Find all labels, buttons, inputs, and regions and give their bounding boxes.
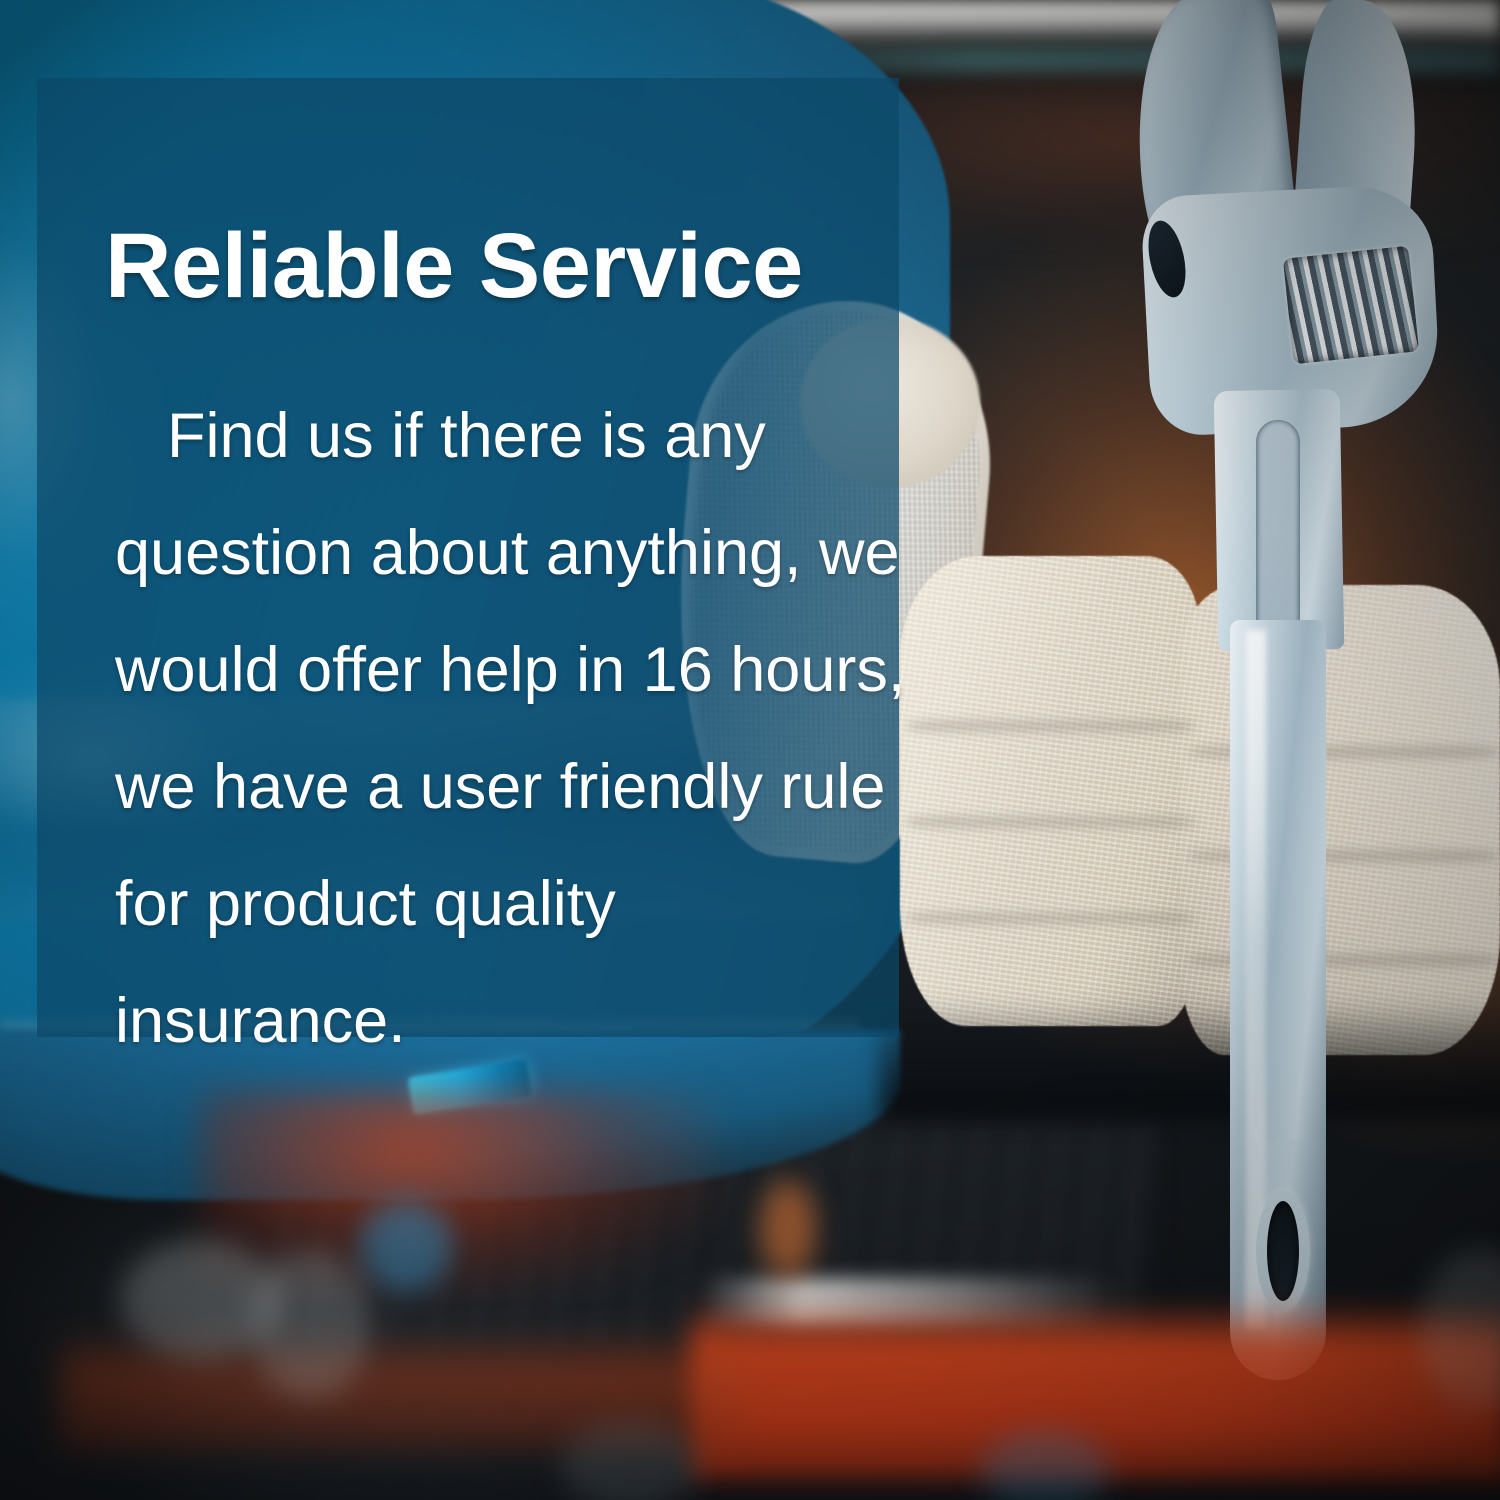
text-overlay-panel: Reliable Service Find us if there is any… [37, 78, 899, 1037]
promo-banner: Reliable Service Find us if there is any… [0, 0, 1500, 1500]
panel-title: Reliable Service [105, 220, 803, 312]
panel-body-text: Find us if there is any question about a… [115, 378, 915, 1080]
